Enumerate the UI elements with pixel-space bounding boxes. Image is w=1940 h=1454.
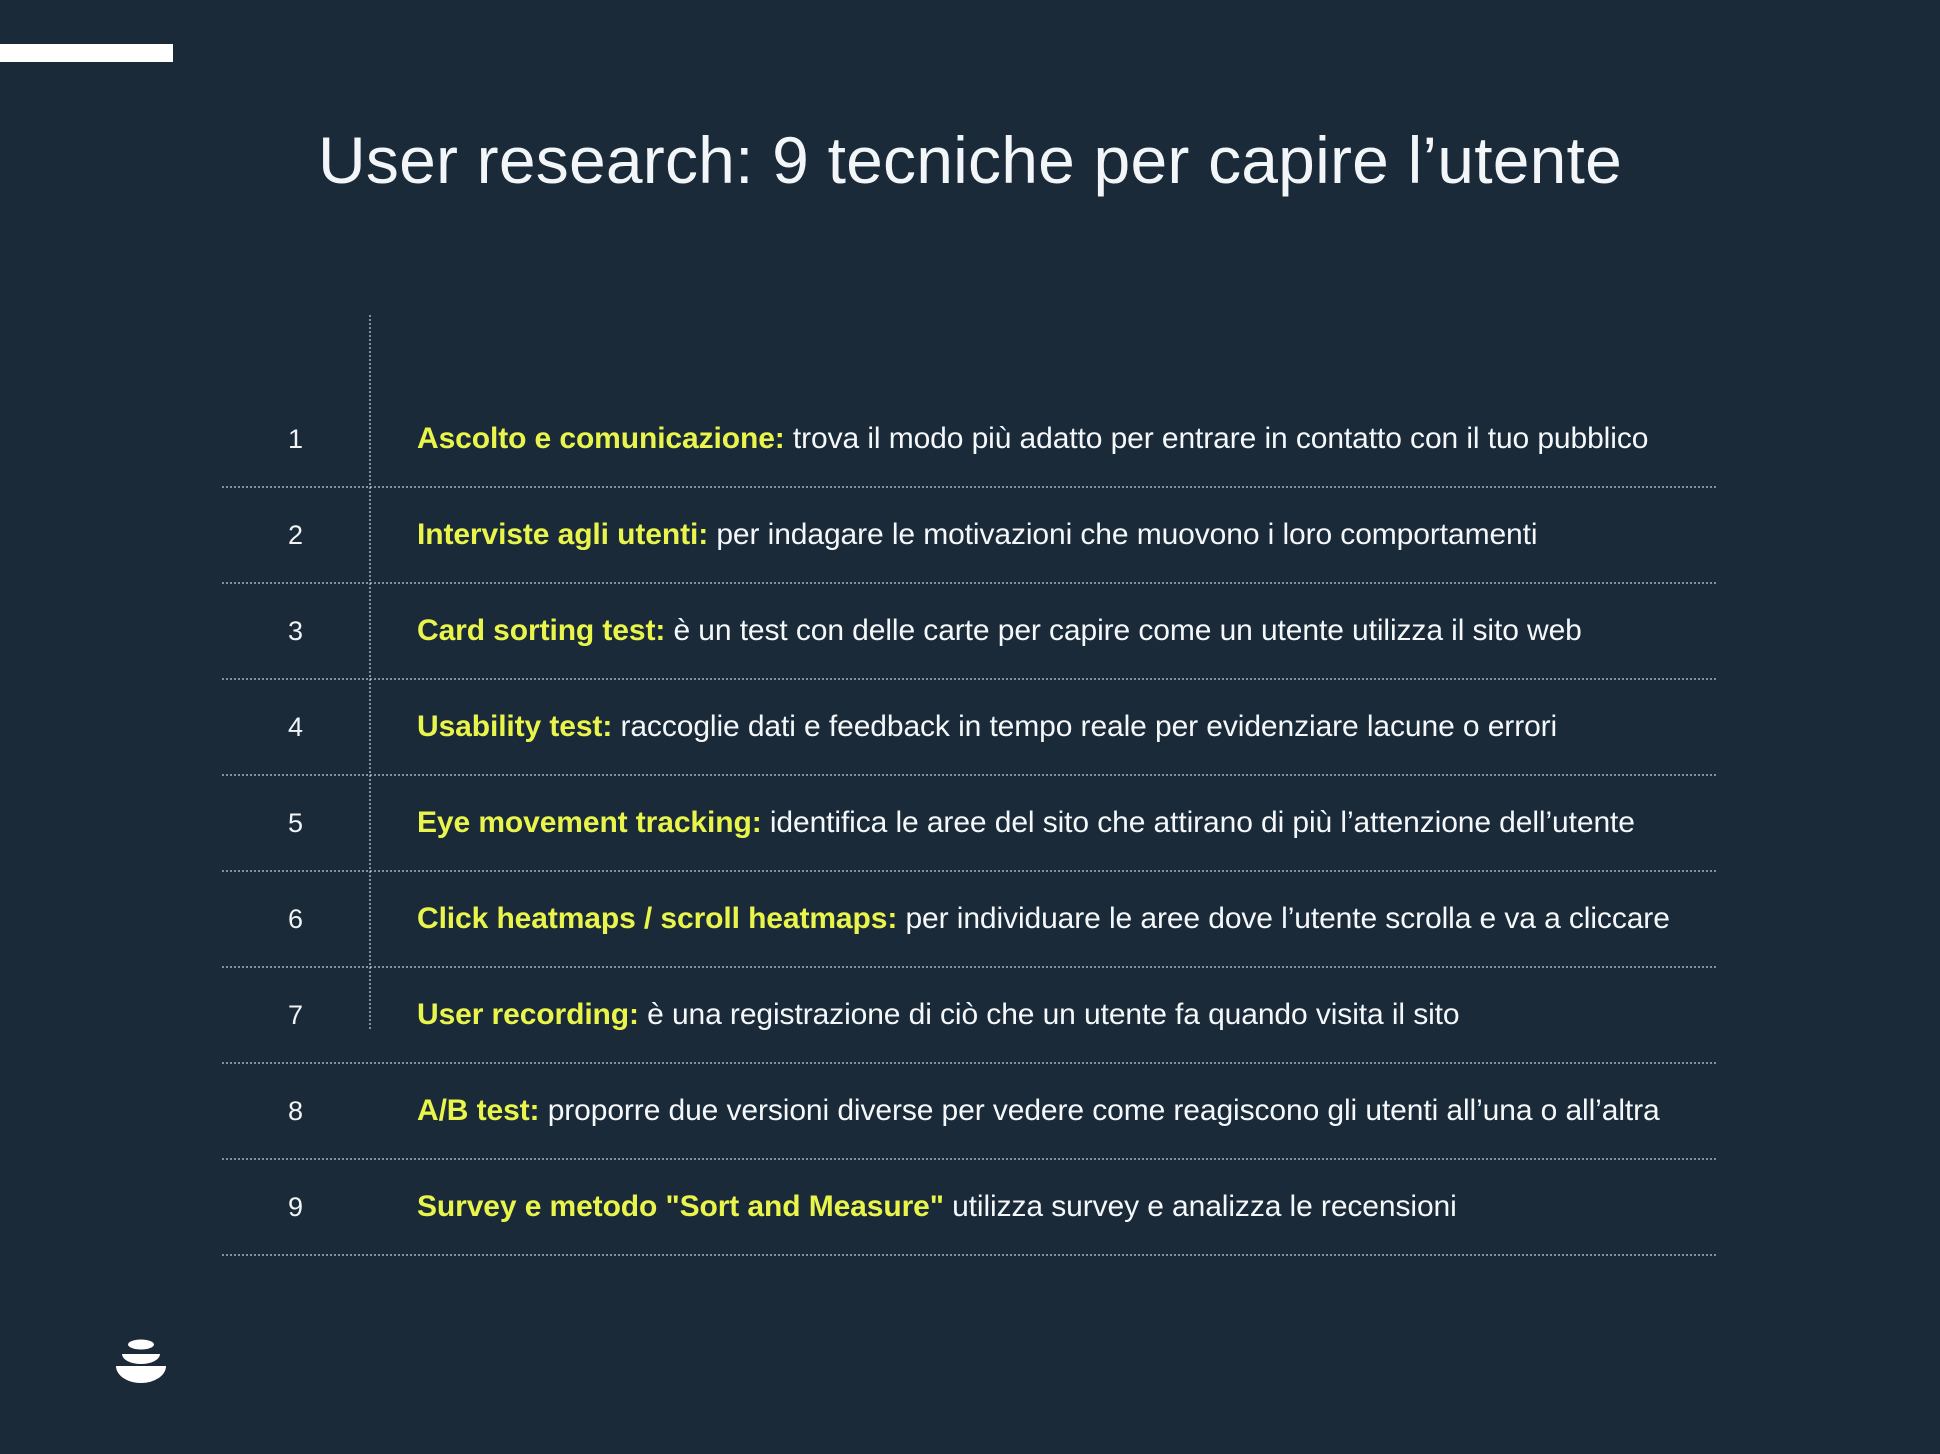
row-content: 5Eye movement tracking: identifica le ar… xyxy=(222,776,1716,870)
row-number: 1 xyxy=(222,424,369,455)
stacked-bowls-logo xyxy=(110,1330,172,1392)
table-row: 6Click heatmaps / scroll heatmaps: per i… xyxy=(222,872,1716,968)
row-text: Interviste agli utenti: per indagare le … xyxy=(369,518,1716,552)
table-row: 1Ascolto e comunicazione: trova il modo … xyxy=(222,392,1716,488)
row-content: 3Card sorting test: è un test con delle … xyxy=(222,584,1716,678)
row-text: A/B test: proporre due versioni diverse … xyxy=(369,1094,1716,1128)
table-row: 2Interviste agli utenti: per indagare le… xyxy=(222,488,1716,584)
row-description: proporre due versioni diverse per vedere… xyxy=(539,1094,1659,1127)
row-content: 6Click heatmaps / scroll heatmaps: per i… xyxy=(222,872,1716,966)
row-number: 8 xyxy=(222,1096,369,1127)
row-content: 8A/B test: proporre due versioni diverse… xyxy=(222,1064,1716,1158)
row-description: raccoglie dati e feedback in tempo reale… xyxy=(612,710,1557,743)
row-number: 3 xyxy=(222,616,369,647)
row-number: 7 xyxy=(222,1000,369,1031)
row-content: 4Usability test: raccoglie dati e feedba… xyxy=(222,680,1716,774)
row-label: Ascolto e comunicazione: xyxy=(417,422,785,455)
table-row: 9Survey e metodo "Sort and Measure" util… xyxy=(222,1160,1716,1256)
row-description: trova il modo più adatto per entrare in … xyxy=(785,422,1649,455)
row-label: Eye movement tracking: xyxy=(417,806,762,839)
white-accent-bar xyxy=(0,44,173,62)
row-description: è un test con delle carte per capire com… xyxy=(665,614,1582,647)
row-number: 4 xyxy=(222,712,369,743)
row-label: Usability test: xyxy=(417,710,612,743)
table-row: 3Card sorting test: è un test con delle … xyxy=(222,584,1716,680)
row-number: 6 xyxy=(222,904,369,935)
techniques-list: 1Ascolto e comunicazione: trova il modo … xyxy=(222,392,1716,1256)
row-label: Click heatmaps / scroll heatmaps: xyxy=(417,902,897,935)
row-label: A/B test: xyxy=(417,1094,539,1127)
row-text: Click heatmaps / scroll heatmaps: per in… xyxy=(369,902,1716,936)
row-description: è una registrazione di ciò che un utente… xyxy=(639,998,1460,1031)
table-row: 7User recording: è una registrazione di … xyxy=(222,968,1716,1064)
row-description: per indagare le motivazioni che muovono … xyxy=(708,518,1537,551)
table-row: 4Usability test: raccoglie dati e feedba… xyxy=(222,680,1716,776)
row-label: User recording: xyxy=(417,998,639,1031)
row-number: 9 xyxy=(222,1192,369,1223)
row-number: 2 xyxy=(222,520,369,551)
row-number: 5 xyxy=(222,808,369,839)
row-label: Survey e metodo "Sort and Measure" xyxy=(417,1190,944,1223)
row-content: 9Survey e metodo "Sort and Measure" util… xyxy=(222,1160,1716,1254)
table-row: 5Eye movement tracking: identifica le ar… xyxy=(222,776,1716,872)
row-label: Interviste agli utenti: xyxy=(417,518,708,551)
table-row: 8A/B test: proporre due versioni diverse… xyxy=(222,1064,1716,1160)
row-description: utilizza survey e analizza le recensioni xyxy=(944,1190,1457,1223)
row-text: Eye movement tracking: identifica le are… xyxy=(369,806,1716,840)
row-label: Card sorting test: xyxy=(417,614,665,647)
row-text: User recording: è una registrazione di c… xyxy=(369,998,1716,1032)
row-text: Survey e metodo "Sort and Measure" utili… xyxy=(369,1190,1716,1224)
row-text: Usability test: raccoglie dati e feedbac… xyxy=(369,710,1716,744)
row-text: Card sorting test: è un test con delle c… xyxy=(369,614,1716,648)
row-text: Ascolto e comunicazione: trova il modo p… xyxy=(369,422,1716,456)
row-description: identifica le aree del sito che attirano… xyxy=(762,806,1635,839)
row-description: per individuare le aree dove l’utente sc… xyxy=(897,902,1670,935)
row-content: 7User recording: è una registrazione di … xyxy=(222,968,1716,1062)
row-content: 2Interviste agli utenti: per indagare le… xyxy=(222,488,1716,582)
row-content: 1Ascolto e comunicazione: trova il modo … xyxy=(222,392,1716,486)
page-title: User research: 9 tecniche per capire l’u… xyxy=(0,124,1940,197)
